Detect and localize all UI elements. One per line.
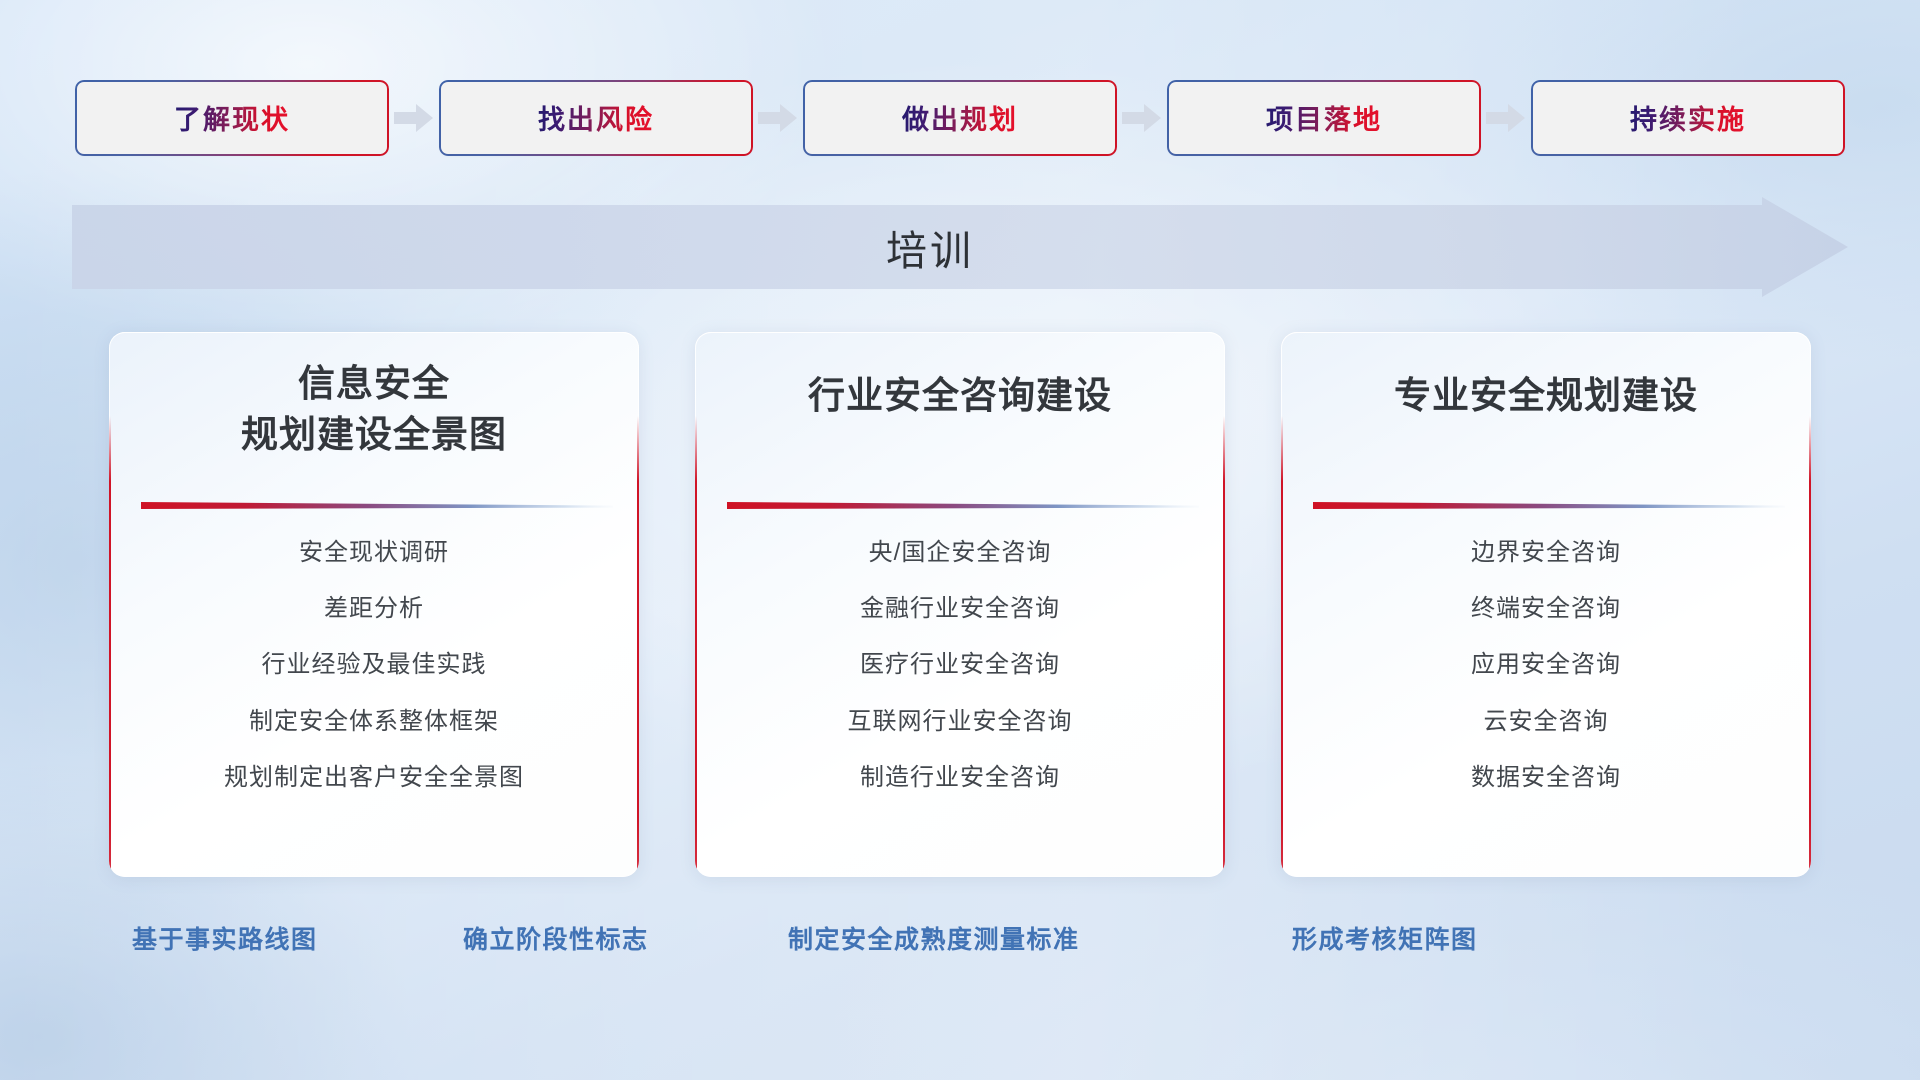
banner-label: 培训 [72,197,1848,297]
bottom-label: 确立阶段性标志 [463,920,649,956]
process-step-flow: 了解现状 找出风险 做出规划 项目落地 持续实施 [0,80,1920,155]
step-label: 项目落地 [1266,98,1382,137]
card-title-line: 信息安全 [135,358,613,409]
card-industry-security-consulting[interactable]: 行业安全咨询建设 央/国企安全咨询 金融行业安全咨询 [695,332,1225,877]
list-item: 行业经验及最佳实践 [262,640,487,689]
card-item-list: 央/国企安全咨询 金融行业安全咨询 医疗行业安全咨询 互联网行业安全咨询 制造行… [695,528,1225,802]
list-item: 应用安全咨询 [1471,640,1621,689]
card-title: 信息安全 规划建设全景图 [109,358,639,460]
arrow-right-icon [1115,80,1169,155]
list-item: 数据安全咨询 [1471,753,1621,802]
arrow-right-icon [1479,80,1533,155]
bottom-label: 制定安全成熟度测量标准 [788,920,1080,956]
step-label: 找出风险 [538,98,654,137]
step-box-4[interactable]: 项目落地 [1169,82,1479,154]
card-title: 专业安全规划建设 [1281,370,1811,421]
card-item-list: 边界安全咨询 终端安全咨询 应用安全咨询 云安全咨询 数据安全咨询 [1281,528,1811,802]
step-box-1[interactable]: 了解现状 [77,82,387,154]
step-label: 做出规划 [902,98,1018,137]
card-divider [141,500,613,510]
card-professional-security-planning[interactable]: 专业安全规划建设 边界安全咨询 终端安全咨询 [1281,332,1811,877]
list-item: 边界安全咨询 [1471,528,1621,577]
list-item: 差距分析 [324,584,424,633]
card-row: 信息安全 规划建设全景图 安全现状调研 差 [0,332,1920,892]
training-banner: 培训 [72,197,1848,297]
list-item: 规划制定出客户安全全景图 [224,753,524,802]
list-item: 制造行业安全咨询 [860,753,1060,802]
bottom-label: 基于事实路线图 [132,920,318,956]
step-box-3[interactable]: 做出规划 [805,82,1115,154]
list-item: 央/国企安全咨询 [869,528,1052,577]
list-item: 终端安全咨询 [1471,584,1621,633]
list-item: 安全现状调研 [299,528,449,577]
list-item: 医疗行业安全咨询 [860,640,1060,689]
step-label: 持续实施 [1630,98,1746,137]
step-box-5[interactable]: 持续实施 [1533,82,1843,154]
step-box-2[interactable]: 找出风险 [441,82,751,154]
card-title-line: 专业安全规划建设 [1307,370,1785,421]
bottom-label: 形成考核矩阵图 [1292,920,1478,956]
card-title-line: 行业安全咨询建设 [721,370,1199,421]
card-divider [727,500,1199,510]
bottom-label-row: 基于事实路线图 确立阶段性标志 制定安全成熟度测量标准 形成考核矩阵图 [0,920,1920,980]
step-label: 了解现状 [174,98,290,137]
card-info-security-blueprint[interactable]: 信息安全 规划建设全景图 安全现状调研 差 [109,332,639,877]
card-title: 行业安全咨询建设 [695,370,1225,421]
card-item-list: 安全现状调研 差距分析 行业经验及最佳实践 制定安全体系整体框架 规划制定出客户… [109,528,639,802]
list-item: 金融行业安全咨询 [860,584,1060,633]
arrow-right-icon [387,80,441,155]
arrow-right-icon [751,80,805,155]
list-item: 制定安全体系整体框架 [249,697,499,746]
list-item: 互联网行业安全咨询 [848,697,1073,746]
card-divider [1313,500,1785,510]
list-item: 云安全咨询 [1484,697,1609,746]
card-title-line: 规划建设全景图 [135,409,613,460]
